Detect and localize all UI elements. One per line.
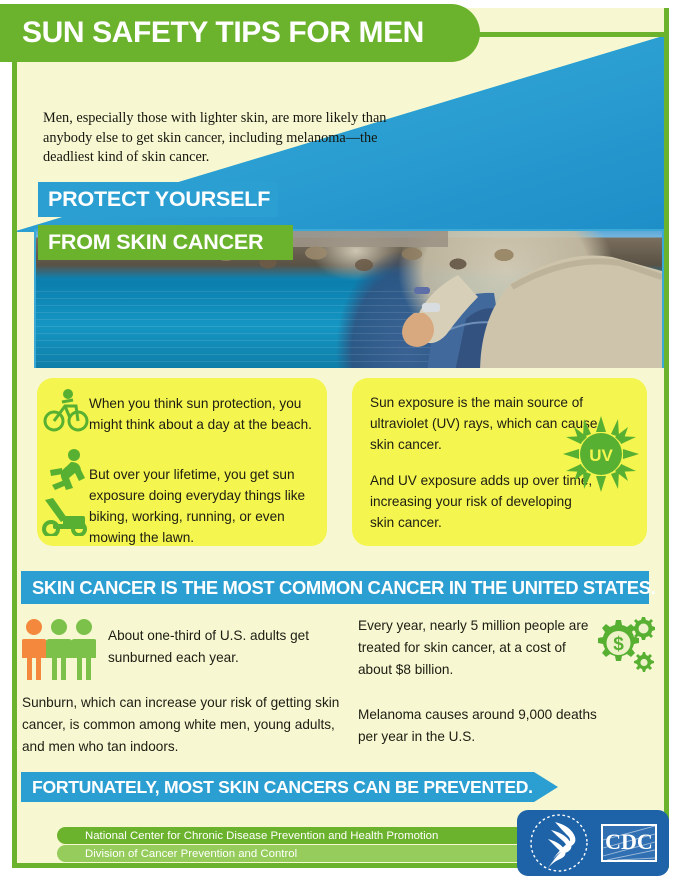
sub-banner-blue-label: PROTECT YOURSELF xyxy=(48,187,270,212)
sub-banner-protect-yourself: PROTECT YOURSELF xyxy=(38,182,278,217)
tip-left-paragraph-2: But over your lifetime, you get sun expo… xyxy=(89,464,321,548)
stat-melanoma-deaths: Melanoma causes around 9,000 deaths per … xyxy=(358,704,598,748)
cdc-wordmark: CDC xyxy=(601,824,657,862)
page-title: SUN SAFETY TIPS FOR MEN xyxy=(0,4,480,62)
footer-bar-one-label: National Center for Chronic Disease Prev… xyxy=(85,830,438,842)
uv-icon-label: UV xyxy=(589,446,613,465)
arrow-banner: FORTUNATELY, MOST SKIN CANCERS CAN BE PR… xyxy=(21,772,558,802)
footer-bar-two-label: Division of Cancer Prevention and Contro… xyxy=(85,848,297,860)
page-title-text: SUN SAFETY TIPS FOR MEN xyxy=(0,16,424,50)
hero-section: Men, especially those with lighter skin,… xyxy=(17,37,664,368)
hhs-seal-icon xyxy=(531,815,587,871)
stat-treatment-cost: Every year, nearly 5 million people are … xyxy=(358,615,593,681)
section-banner: SKIN CANCER IS THE MOST COMMON CANCER IN… xyxy=(21,571,649,604)
section-banner-label: SKIN CANCER IS THE MOST COMMON CANCER IN… xyxy=(32,577,655,599)
cdc-logo-graphic: CDC xyxy=(517,810,669,876)
cdc-logo-text: CDC xyxy=(605,829,653,854)
tip-box-everyday-exposure: When you think sun protection, you might… xyxy=(37,378,327,546)
sub-banner-from-skin-cancer: FROM SKIN CANCER xyxy=(38,225,293,260)
arrow-banner-label: FORTUNATELY, MOST SKIN CANCERS CAN BE PR… xyxy=(32,772,533,802)
footer-bar-national-center: National Center for Chronic Disease Prev… xyxy=(57,827,529,844)
runner-icon xyxy=(47,448,89,492)
bicycle-icon xyxy=(43,388,89,434)
lawn-mower-icon xyxy=(41,496,89,536)
footer-bar-division: Division of Cancer Prevention and Contro… xyxy=(57,845,529,862)
tip-box-uv-rays: Sun exposure is the main source of ultra… xyxy=(352,378,647,546)
stat-sunburn-risk-groups: Sunburn, which can increase your risk of… xyxy=(22,692,342,758)
sub-banner-green-label: FROM SKIN CANCER xyxy=(48,230,263,255)
three-people-icon xyxy=(22,618,96,680)
dollar-gears-icon: $ xyxy=(592,614,658,676)
cdc-logo: CDC xyxy=(517,810,669,876)
stat-sunburned-adults: About one-third of U.S. adults get sunbu… xyxy=(108,625,338,669)
photo-man-figure xyxy=(362,227,662,368)
intro-paragraph: Men, especially those with lighter skin,… xyxy=(43,109,403,168)
infographic-poster: Men, especially those with lighter skin,… xyxy=(0,0,681,879)
tip-left-paragraph-1: When you think sun protection, you might… xyxy=(89,393,317,435)
svg-text:$: $ xyxy=(613,634,624,655)
uv-sun-icon: UV xyxy=(563,416,639,492)
